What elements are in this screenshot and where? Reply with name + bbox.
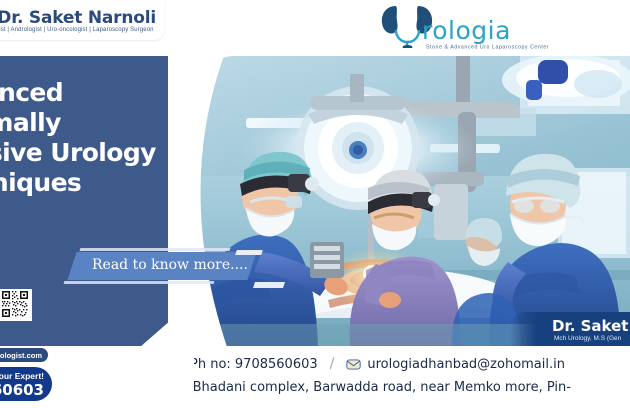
website-url: urologist.com — [0, 351, 46, 360]
cta-dash-bottom — [253, 282, 285, 288]
headline-line-3: Invasive Urology — [0, 138, 180, 168]
photo-doctor-tag: Dr. Saket Mch Urology, M.S (Gen — [510, 312, 630, 346]
headline-line-4: Techniques — [0, 168, 180, 198]
headline-line-2: Minimally — [0, 108, 180, 138]
talk-to-expert-number: 7085 60603 — [0, 381, 48, 399]
logo-wordmark: rologia — [422, 16, 511, 45]
footer-phone-label: Ph no: 9708560603 — [190, 357, 318, 372]
promotional-banner: rologia Stone & Advanced Uro Laparoscopy… — [0, 0, 630, 408]
operating-room-illustration — [190, 56, 630, 346]
headline-line-1: Advanced — [0, 78, 180, 108]
doctor-name-card: Dr. Saket Narnoli Urologist | Andrologis… — [0, 0, 164, 40]
qr-code-graphic — [1, 290, 29, 318]
footer-separator: / — [330, 356, 335, 372]
photo-doctor-name: Dr. Saket — [552, 317, 628, 335]
cta-label: Read to know more.... — [92, 257, 272, 273]
doctor-credentials: Urologist | Andrologist | Uro-oncologist… — [0, 26, 164, 33]
logo-tagline: Stone & Advanced Uro Laparoscopy Center — [426, 44, 549, 50]
doctor-name: Dr. Saket Narnoli — [0, 8, 164, 28]
surgery-photo — [190, 56, 630, 346]
headline: Advanced Minimally Invasive Urology Tech… — [0, 78, 180, 198]
read-more-cta[interactable]: Read to know more.... — [58, 248, 258, 286]
brand-logo[interactable]: rologia Stone & Advanced Uro Laparoscopy… — [378, 2, 528, 56]
talk-to-expert-label: our Expert! — [0, 371, 48, 381]
footer-contact-row: Ph no: 9708560603 / urologiadhanbad@zoho… — [170, 356, 565, 372]
cta-dash-top — [235, 250, 263, 255]
qr-code-icon[interactable] — [0, 289, 32, 321]
footer-email[interactable]: urologiadhanbad@zohomail.in — [367, 357, 565, 372]
envelope-icon — [346, 358, 361, 371]
cta-accent-line-top — [80, 248, 231, 251]
cta-accent-line-bottom — [64, 281, 215, 284]
photo-doctor-qualification: Mch Urology, M.S (Gen — [554, 335, 621, 343]
